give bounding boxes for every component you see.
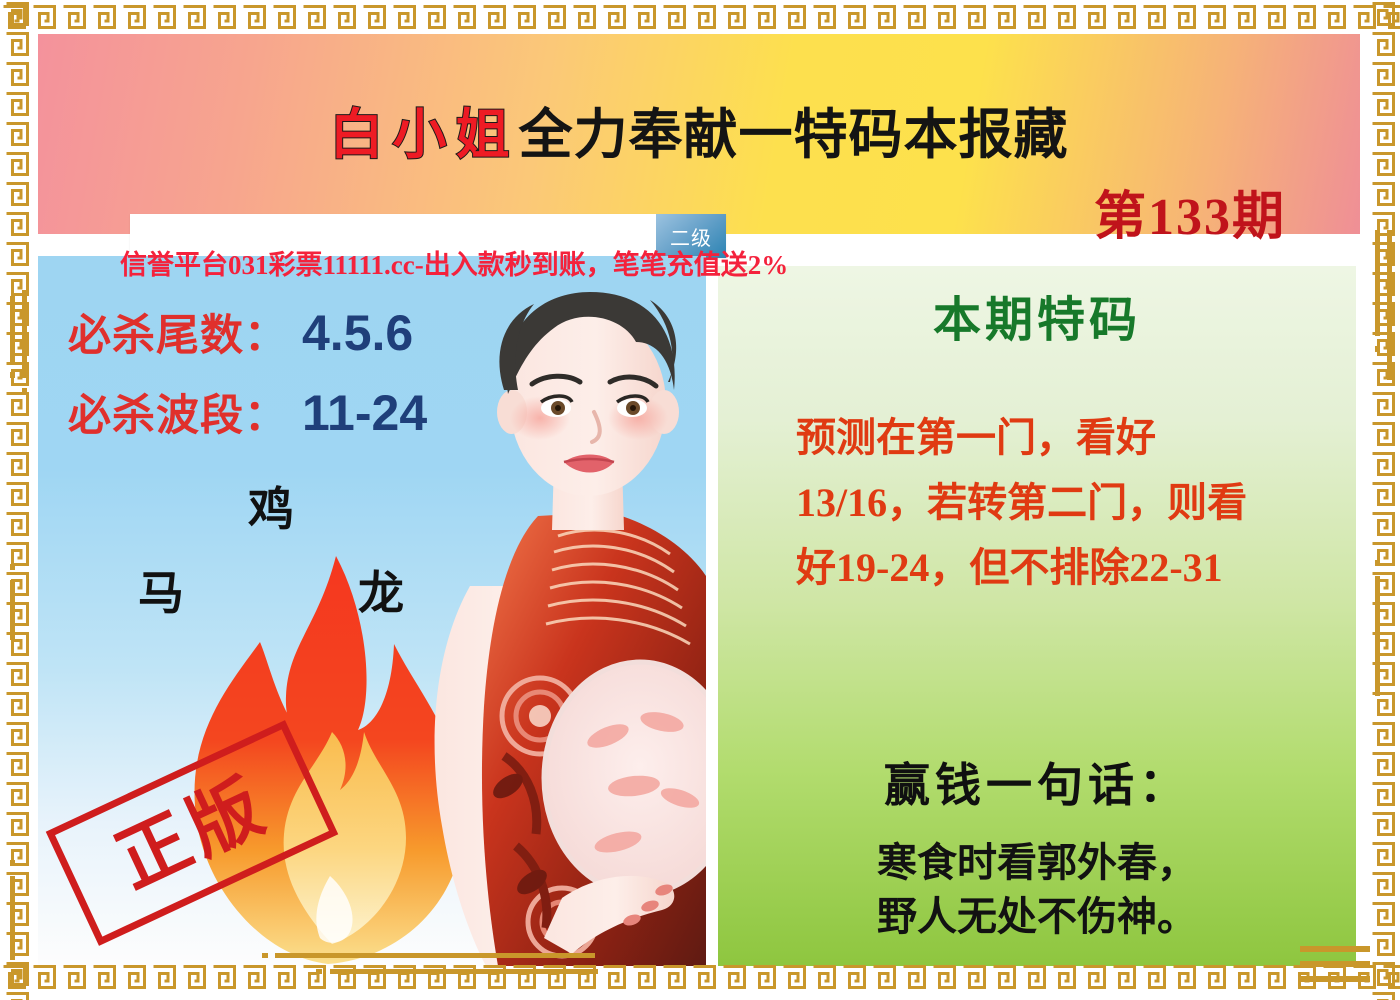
poem-line: 野人无处不伤神。 <box>718 890 1356 944</box>
zodiac-right: 龙 <box>358 570 404 616</box>
special-code-title: 本期特码 <box>718 296 1356 344</box>
header-banner: 白小姐全力奉献一特码本报藏 二级 第133期 <box>38 34 1360 234</box>
border-meander-top <box>0 2 1400 32</box>
forecast-text: 预测在第一门，看好13/16，若转第二门，则看好19-24，但不排除22-31 <box>796 406 1286 600</box>
kill-band-label: 必杀波段： <box>68 391 288 441</box>
border-meander-bottom <box>0 962 1400 992</box>
border-meander-right <box>1368 0 1398 1000</box>
zodiac-top: 鸡 <box>248 486 294 532</box>
win-money-title: 赢钱一句话： <box>718 762 1356 808</box>
poem-line: 寒食时看郭外春， <box>718 836 1356 890</box>
page-title-red: 白小姐 <box>330 103 519 166</box>
issue-number: 第133期 <box>1094 192 1286 244</box>
left-forecast-panel: 必杀尾数：4.5.6 必杀波段：11-24 鸡 马 龙 <box>38 256 706 966</box>
poster-root: 白小姐全力奉献一特码本报藏 二级 第133期 信誉平台031彩票11111.cc… <box>0 0 1400 1000</box>
kill-tail-row: 必杀尾数：4.5.6 <box>68 308 413 358</box>
kill-tail-label: 必杀尾数： <box>68 311 288 361</box>
kill-band-value: 11-24 <box>302 385 427 441</box>
border-meander-left <box>2 0 32 1000</box>
win-money-poem: 寒食时看郭外春，野人无处不伤神。 <box>718 836 1356 944</box>
kill-tail-value: 4.5.6 <box>302 305 413 361</box>
gold-rule-bottom-b <box>262 953 268 958</box>
gold-rule-bottom-e <box>1300 946 1370 952</box>
kill-band-row: 必杀波段：11-24 <box>68 388 427 438</box>
page-title-black: 全力奉献一特码本报藏 <box>519 103 1069 166</box>
promo-ticker: 信誉平台031彩票11111.cc-出入款秒到账，笔笔充值送2% <box>120 243 1080 282</box>
right-special-panel: 本期特码 预测在第一门，看好13/16，若转第二门，则看好19-24，但不排除2… <box>718 266 1356 966</box>
woman-illustration <box>412 286 706 966</box>
zodiac-left: 马 <box>138 570 184 616</box>
gold-rule-bottom-a <box>275 953 595 958</box>
page-title: 白小姐全力奉献一特码本报藏 <box>38 108 1360 162</box>
